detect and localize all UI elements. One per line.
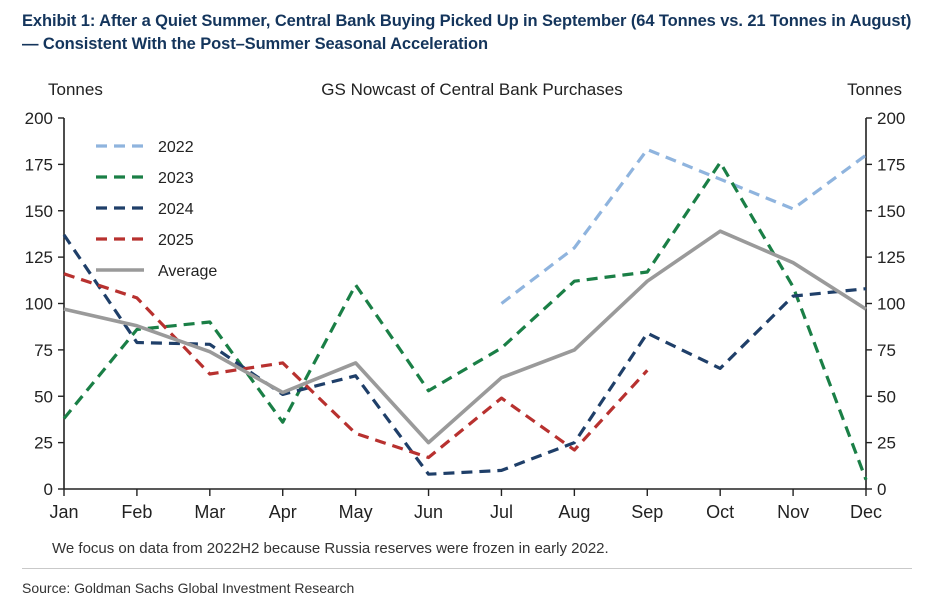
svg-text:200: 200	[25, 109, 53, 128]
svg-text:Mar: Mar	[194, 502, 225, 522]
page-title: Exhibit 1: After a Quiet Summer, Central…	[22, 10, 912, 57]
svg-text:Dec: Dec	[850, 502, 882, 522]
chart-container: Tonnes GS Nowcast of Central Bank Purcha…	[0, 76, 934, 546]
exhibit-page: Exhibit 1: After a Quiet Summer, Central…	[0, 0, 934, 609]
legend-label-2025: 2025	[158, 232, 194, 249]
svg-text:175: 175	[877, 155, 905, 174]
svg-text:0: 0	[44, 480, 53, 499]
svg-text:50: 50	[34, 387, 53, 406]
svg-text:Nov: Nov	[777, 502, 809, 522]
svg-text:100: 100	[877, 295, 905, 314]
svg-text:150: 150	[25, 202, 53, 221]
svg-text:Aug: Aug	[558, 502, 590, 522]
legend-label-2023: 2023	[158, 170, 194, 187]
svg-text:May: May	[339, 502, 373, 522]
svg-text:50: 50	[877, 387, 896, 406]
series-line-2022	[502, 150, 867, 304]
line-chart-plot: 0025255050757510010012512515015017517520…	[0, 76, 934, 546]
svg-text:Jan: Jan	[49, 502, 78, 522]
source-note: Source: Goldman Sachs Global Investment …	[22, 580, 354, 596]
svg-text:Jul: Jul	[490, 502, 513, 522]
series-line-2025	[64, 274, 647, 458]
svg-text:75: 75	[34, 341, 53, 360]
legend-label-2024: 2024	[158, 201, 194, 218]
svg-text:150: 150	[877, 202, 905, 221]
svg-text:Feb: Feb	[121, 502, 152, 522]
svg-text:Apr: Apr	[269, 502, 297, 522]
svg-text:Jun: Jun	[414, 502, 443, 522]
svg-text:Sep: Sep	[631, 502, 663, 522]
svg-text:25: 25	[877, 434, 896, 453]
divider	[22, 568, 912, 569]
svg-text:200: 200	[877, 109, 905, 128]
svg-text:125: 125	[877, 248, 905, 267]
svg-text:100: 100	[25, 295, 53, 314]
legend-label-2022: 2022	[158, 139, 194, 156]
svg-text:175: 175	[25, 155, 53, 174]
svg-text:125: 125	[25, 248, 53, 267]
svg-text:25: 25	[34, 434, 53, 453]
svg-text:0: 0	[877, 480, 886, 499]
legend-label-average: Average	[158, 263, 217, 280]
svg-text:Oct: Oct	[706, 502, 734, 522]
svg-text:75: 75	[877, 341, 896, 360]
chart-footnote: We focus on data from 2022H2 because Rus…	[52, 540, 609, 557]
